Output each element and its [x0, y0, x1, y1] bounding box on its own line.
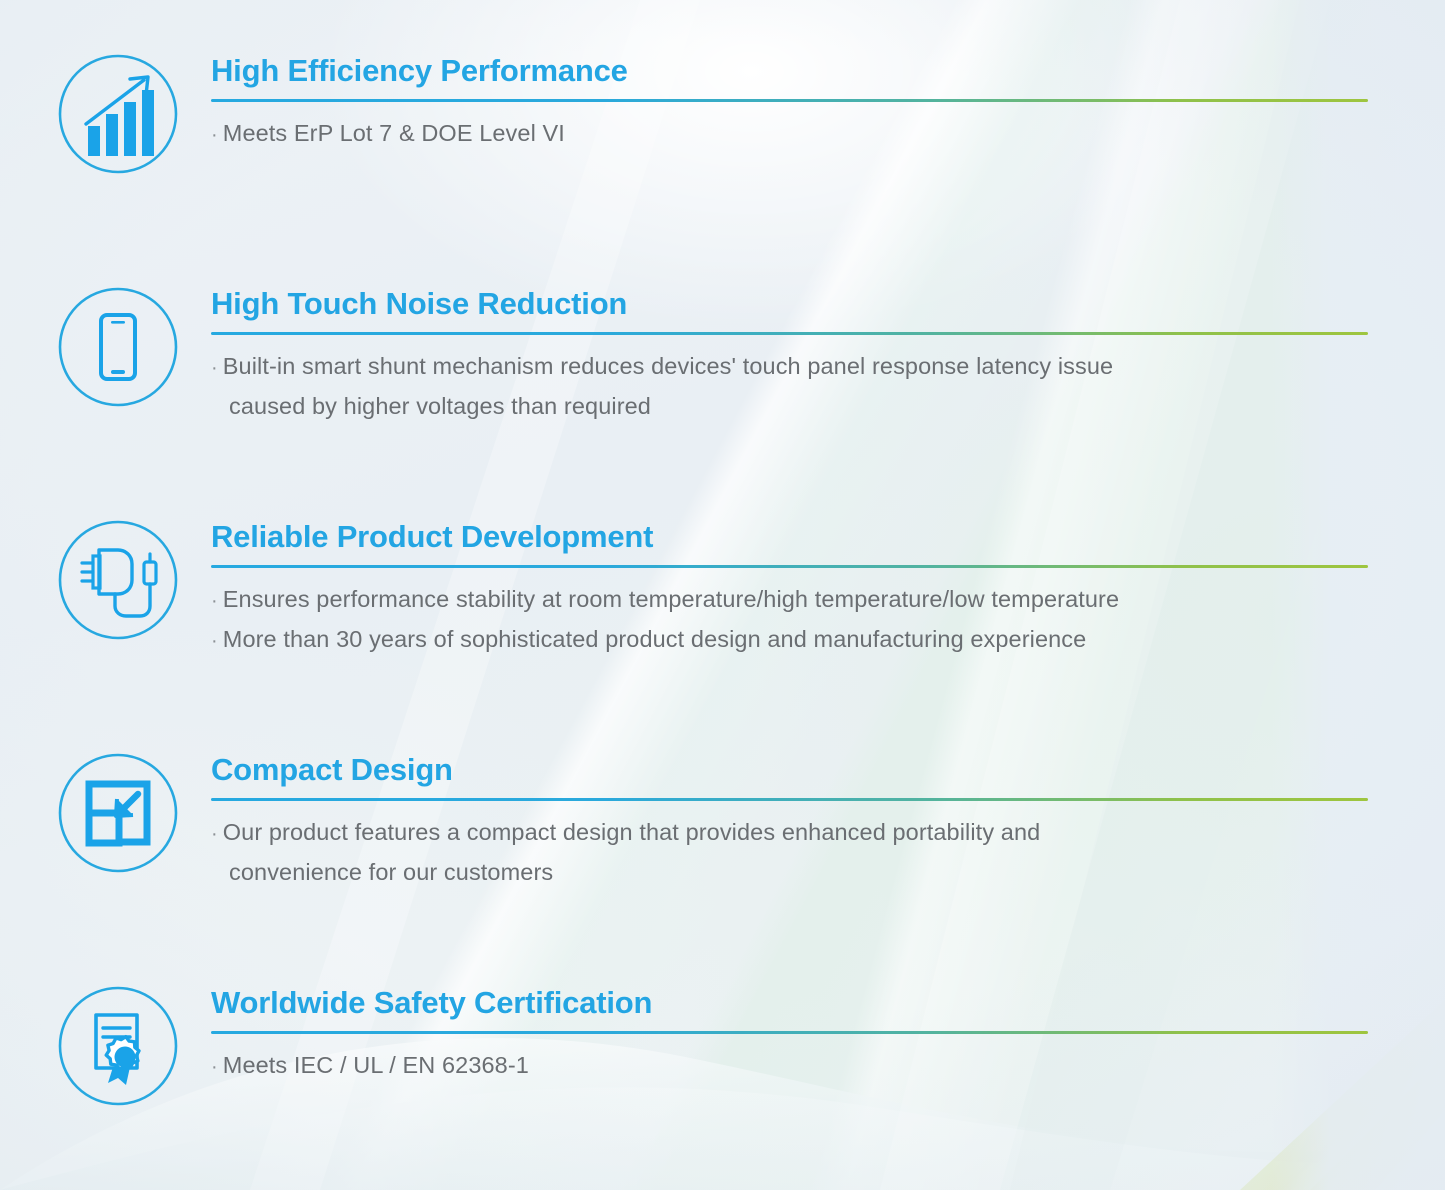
feature-content: High Touch Noise Reduction ·Built-in sma… — [211, 285, 1445, 425]
feature-divider — [211, 99, 1368, 102]
bullet-marker: · — [211, 1056, 223, 1078]
feature-content: Compact Design ·Our product features a c… — [211, 751, 1445, 891]
feature-title: High Efficiency Performance — [211, 52, 1445, 90]
growth-bar-chart-icon — [56, 52, 180, 176]
bullet-marker: · — [211, 357, 223, 379]
feature-description: ·Meets ErP Lot 7 & DOE Level VI — [211, 114, 1445, 154]
feature-highlights-page: High Efficiency Performance ·Meets ErP L… — [0, 0, 1445, 1190]
feature-bullet-text: convenience for our customers — [229, 859, 553, 885]
feature-title: Reliable Product Development — [211, 518, 1445, 556]
power-adapter-icon — [56, 518, 180, 642]
feature-bullet-text: Ensures performance stability at room te… — [223, 586, 1119, 612]
feature-description: ·Our product features a compact design t… — [211, 813, 1445, 891]
smartphone-icon — [56, 285, 180, 409]
feature-title: Compact Design — [211, 751, 1445, 789]
feature-content: Worldwide Safety Certification ·Meets IE… — [211, 984, 1445, 1086]
feature-bullet-text: Our product features a compact design th… — [223, 819, 1041, 845]
bullet-marker: · — [211, 823, 223, 845]
feature-bullet-line-continuation: convenience for our customers — [211, 853, 1445, 891]
bullet-marker: · — [211, 124, 223, 146]
feature-bullet-text: More than 30 years of sophisticated prod… — [223, 626, 1087, 652]
feature-description: ·Ensures performance stability at room t… — [211, 580, 1445, 660]
certificate-seal-icon — [56, 984, 180, 1108]
feature-content: High Efficiency Performance ·Meets ErP L… — [211, 52, 1445, 154]
bullet-marker: · — [211, 590, 223, 612]
feature-description: ·Built-in smart shunt mechanism reduces … — [211, 347, 1445, 425]
feature-bullet-line: ·Meets IEC / UL / EN 62368-1 — [211, 1046, 1445, 1086]
feature-list: High Efficiency Performance ·Meets ErP L… — [0, 0, 1445, 1190]
feature-bullet-line: ·Built-in smart shunt mechanism reduces … — [211, 347, 1445, 387]
feature-divider — [211, 798, 1368, 801]
feature-description: ·Meets IEC / UL / EN 62368-1 — [211, 1046, 1445, 1086]
feature-divider — [211, 332, 1368, 335]
feature-title: Worldwide Safety Certification — [211, 984, 1445, 1022]
bullet-marker: · — [211, 630, 223, 652]
feature-divider — [211, 565, 1368, 568]
feature-content: Reliable Product Development ·Ensures pe… — [211, 518, 1445, 660]
feature-bullet-text: Meets IEC / UL / EN 62368-1 — [223, 1052, 529, 1078]
feature-bullet-text: Meets ErP Lot 7 & DOE Level VI — [223, 120, 565, 146]
feature-divider — [211, 1031, 1368, 1034]
feature-bullet-text: Built-in smart shunt mechanism reduces d… — [223, 353, 1113, 379]
feature-bullet-line-continuation: caused by higher voltages than required — [211, 387, 1445, 425]
feature-bullet-line: ·More than 30 years of sophisticated pro… — [211, 620, 1445, 660]
feature-bullet-line: ·Meets ErP Lot 7 & DOE Level VI — [211, 114, 1445, 154]
compact-resize-icon — [56, 751, 180, 875]
feature-bullet-text: caused by higher voltages than required — [229, 393, 651, 419]
feature-bullet-line: ·Our product features a compact design t… — [211, 813, 1445, 853]
feature-bullet-line: ·Ensures performance stability at room t… — [211, 580, 1445, 620]
feature-title: High Touch Noise Reduction — [211, 285, 1445, 323]
